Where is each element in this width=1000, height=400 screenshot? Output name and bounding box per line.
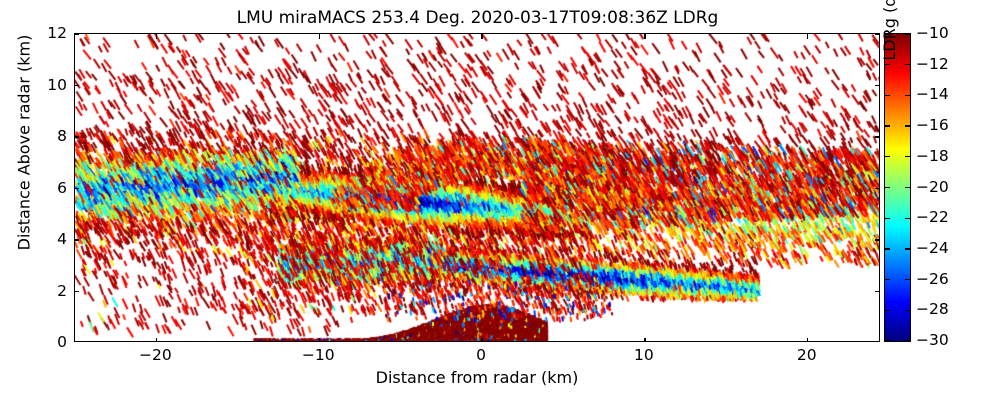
y-tick (75, 85, 79, 86)
x-tick-top (156, 34, 157, 39)
colorbar-tick-right (905, 125, 910, 126)
y-axis-label: Distance Above radar (km) (15, 0, 34, 293)
colorbar-tick-right (905, 95, 910, 96)
x-tick-label: 20 (797, 346, 817, 364)
y-tick-label: 6 (0, 179, 67, 197)
colorbar-tick-right (905, 310, 910, 311)
colorbar-tick-label: −12 (916, 55, 949, 73)
radar-ldr-figure: LMU miraMACS 253.4 Deg. 2020-03-17T09:08… (0, 0, 1000, 400)
colorbar-tick-label: −18 (916, 147, 949, 165)
y-tick (75, 188, 79, 189)
x-tick (156, 338, 157, 342)
y-tick (75, 239, 79, 240)
colorbar-tick-label: −10 (916, 24, 949, 42)
colorbar-tick (885, 125, 890, 126)
colorbar-tick-label: −24 (916, 239, 949, 257)
y-tick-right (875, 136, 879, 137)
y-tick-label: 4 (0, 230, 67, 248)
y-tick (75, 136, 79, 137)
colorbar-tick-label: −30 (916, 331, 949, 349)
colorbar-tick-label: −28 (916, 300, 949, 318)
chart-title: LMU miraMACS 253.4 Deg. 2020-03-17T09:08… (0, 8, 955, 28)
y-tick (75, 33, 79, 34)
y-tick-right (875, 239, 879, 240)
colorbar-tick (885, 187, 890, 188)
colorbar-tick-right (905, 187, 910, 188)
colorbar-tick (885, 156, 890, 157)
x-tick (319, 338, 320, 342)
y-tick-right (875, 33, 879, 34)
x-tick-label: 0 (476, 346, 486, 364)
colorbar-tick (885, 218, 890, 219)
x-tick-label: 10 (634, 346, 654, 364)
colorbar-tick-right (905, 64, 910, 65)
x-tick-label: −10 (302, 346, 335, 364)
x-axis-label: Distance from radar (km) (74, 368, 880, 387)
x-tick-top (481, 34, 482, 39)
y-tick-right (875, 188, 879, 189)
colorbar-label: LDRg (dB) (880, 0, 899, 120)
x-tick (481, 338, 482, 342)
colorbar-tick (885, 248, 890, 249)
colorbar-tick-right (905, 248, 910, 249)
colorbar-tick-label: −20 (916, 178, 949, 196)
colorbar-tick-right (905, 340, 910, 341)
colorbar-tick (885, 340, 890, 341)
y-tick-right (875, 291, 879, 292)
colorbar-tick-label: −16 (916, 116, 949, 134)
colorbar-tick (885, 310, 890, 311)
y-tick-label: 8 (0, 127, 67, 145)
colorbar-tick-right (905, 156, 910, 157)
y-tick-label: 12 (0, 24, 67, 42)
y-tick-label: 10 (0, 76, 67, 94)
x-tick (807, 338, 808, 342)
colorbar-tick-label: −26 (916, 270, 949, 288)
x-tick (644, 338, 645, 342)
x-tick-top (807, 34, 808, 39)
x-tick-top (644, 34, 645, 39)
colorbar-tick-right (905, 279, 910, 280)
y-tick (75, 291, 79, 292)
plot-area (74, 33, 880, 342)
colorbar-tick-label: −14 (916, 85, 949, 103)
colorbar-tick-right (905, 218, 910, 219)
colorbar-tick-label: −22 (916, 208, 949, 226)
y-tick-label: 0 (0, 333, 67, 351)
x-tick-top (319, 34, 320, 39)
colorbar-tick-right (905, 33, 910, 34)
scatter-plot-canvas (75, 34, 880, 342)
colorbar-tick (885, 279, 890, 280)
y-tick-label: 2 (0, 282, 67, 300)
y-tick-right (875, 85, 879, 86)
x-tick-label: −20 (139, 346, 172, 364)
